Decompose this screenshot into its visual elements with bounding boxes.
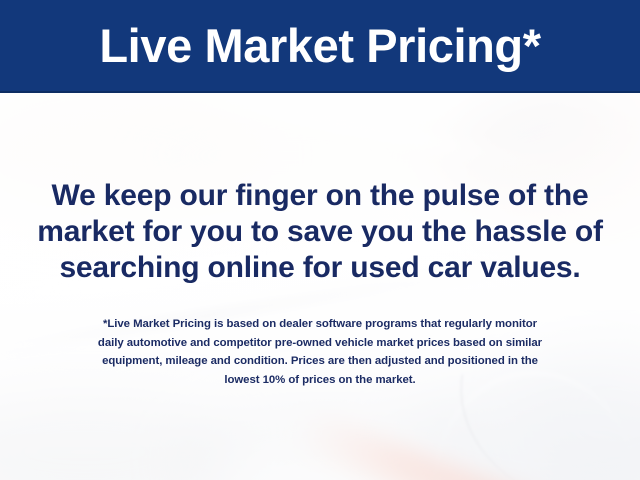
disclaimer-line-4: lowest 10% of prices on the market. xyxy=(26,371,614,390)
content-area: We keep our finger on the pulse of the m… xyxy=(0,93,640,480)
disclaimer-block: *Live Market Pricing is based on dealer … xyxy=(26,315,614,389)
live-market-pricing-graphic: Live Market Pricing* We keep our finger … xyxy=(0,0,640,480)
headline-block: We keep our finger on the pulse of the m… xyxy=(20,178,620,286)
disclaimer-line-1: *Live Market Pricing is based on dealer … xyxy=(26,315,614,334)
headline-line-3: searching online for used car values. xyxy=(20,250,620,286)
headline-line-2: market for you to save you the hassle of xyxy=(20,214,620,250)
header-banner: Live Market Pricing* xyxy=(0,0,640,93)
disclaimer-line-2: daily automotive and competitor pre-owne… xyxy=(26,334,614,353)
page-title: Live Market Pricing* xyxy=(99,22,540,69)
disclaimer-line-3: equipment, mileage and condition. Prices… xyxy=(26,352,614,371)
headline-line-1: We keep our finger on the pulse of the xyxy=(20,178,620,214)
